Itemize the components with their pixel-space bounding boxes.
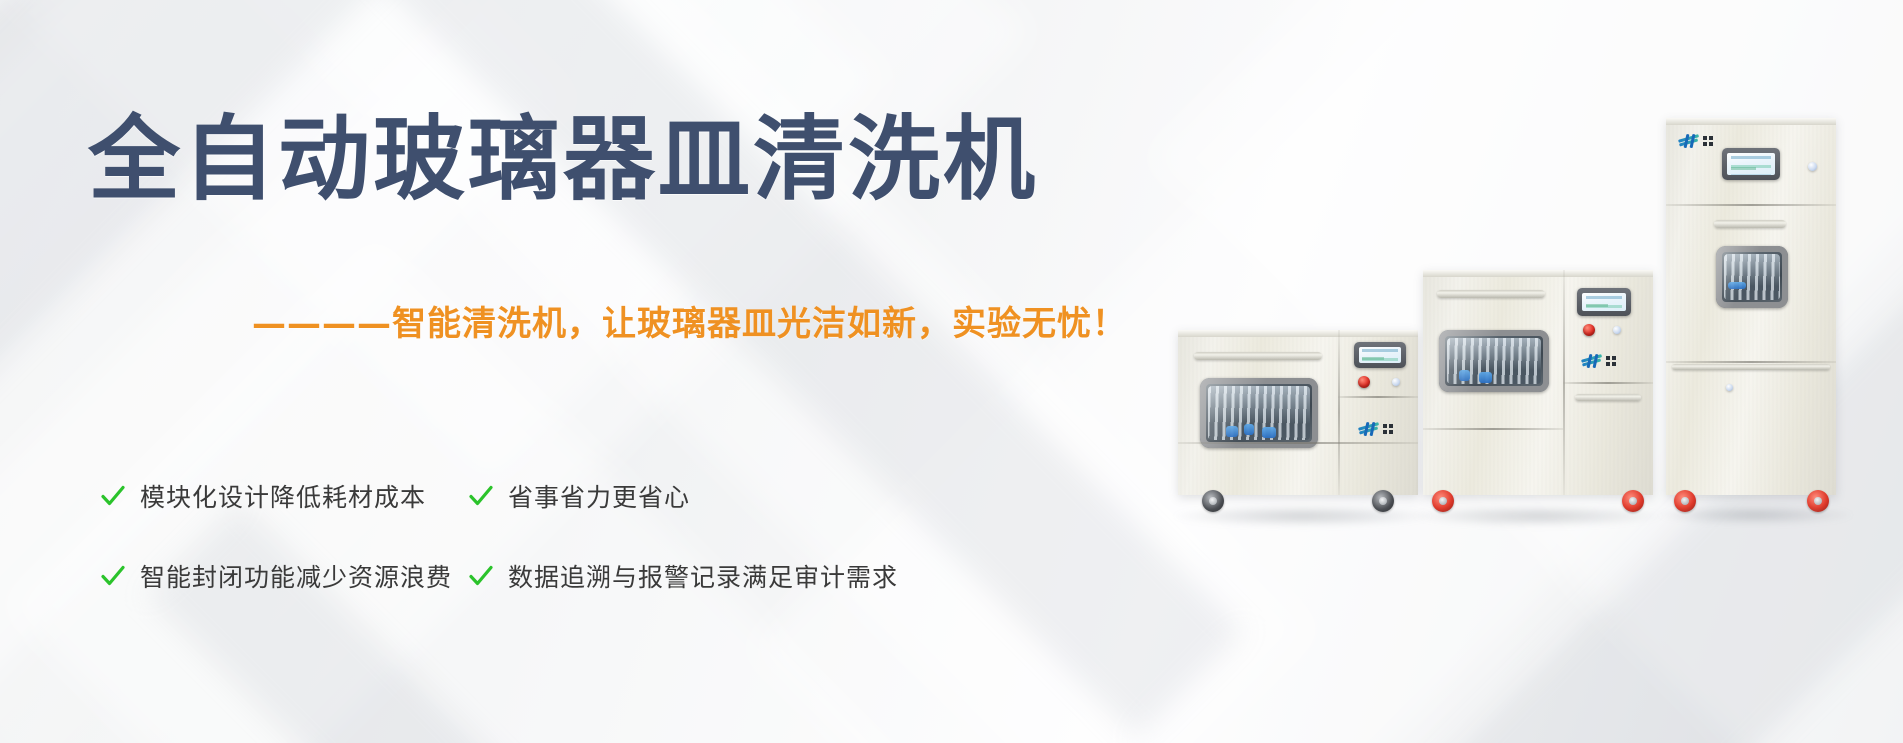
power-button[interactable] [1613,326,1621,334]
feature-item-4: 数据追溯与报警记录满足审计需求 [468,558,898,594]
feature-label: 数据追溯与报警记录满足审计需求 [508,558,898,594]
door-handle [1714,220,1786,228]
product-hero-banner: 全自动玻璃器皿清洗机 ————智能清洗机，让玻璃器皿光洁如新，实验无忧！ 模块化… [0,0,1903,743]
page-title: 全自动玻璃器皿清洗机 [88,112,1038,209]
lower-door-lock[interactable] [1726,384,1733,391]
brand-logo [1358,422,1393,436]
product-image-1 [1178,330,1418,495]
banner-subtitle: ————智能清洗机，让玻璃器皿光洁如新，实验无忧！ [252,296,1127,345]
touchscreen-hmi[interactable] [1722,148,1780,180]
feature-label: 省事省力更省心 [508,478,690,514]
feature-item-2: 省事省力更省心 [468,478,898,514]
door-handle [1194,352,1322,360]
feature-item-1: 模块化设计降低耗材成本 [100,478,468,514]
power-button[interactable] [1808,162,1817,171]
power-button[interactable] [1392,378,1400,386]
touchscreen-hmi[interactable] [1577,288,1631,316]
door-handle [1437,290,1545,298]
feature-label: 智能封闭功能减少资源浪费 [140,558,452,594]
lower-door-handle [1672,364,1830,370]
feature-item-3: 智能封闭功能减少资源浪费 [100,558,468,594]
product-image-group [1083,0,1903,743]
viewing-window [1200,378,1318,448]
product-image-2 [1423,270,1653,495]
brand-logo [1678,134,1713,148]
viewing-window [1439,330,1549,392]
feature-label: 模块化设计降低耗材成本 [140,478,426,514]
check-icon [468,483,494,509]
check-icon [100,483,126,509]
touchscreen-hmi[interactable] [1354,342,1406,368]
feature-list: 模块化设计降低耗材成本 省事省力更省心 智能封闭功能减少资源浪费 [100,478,898,594]
check-icon [468,563,494,589]
banner-copy: 全自动玻璃器皿清洗机 ————智能清洗机，让玻璃器皿光洁如新，实验无忧！ 模块化… [0,0,1100,743]
check-icon [100,563,126,589]
emergency-stop-button[interactable] [1583,324,1595,336]
emergency-stop-button[interactable] [1358,376,1370,388]
brand-logo [1581,354,1616,368]
lower-drawer-handle [1575,394,1641,401]
viewing-window [1716,246,1788,308]
product-image-3 [1666,118,1836,495]
